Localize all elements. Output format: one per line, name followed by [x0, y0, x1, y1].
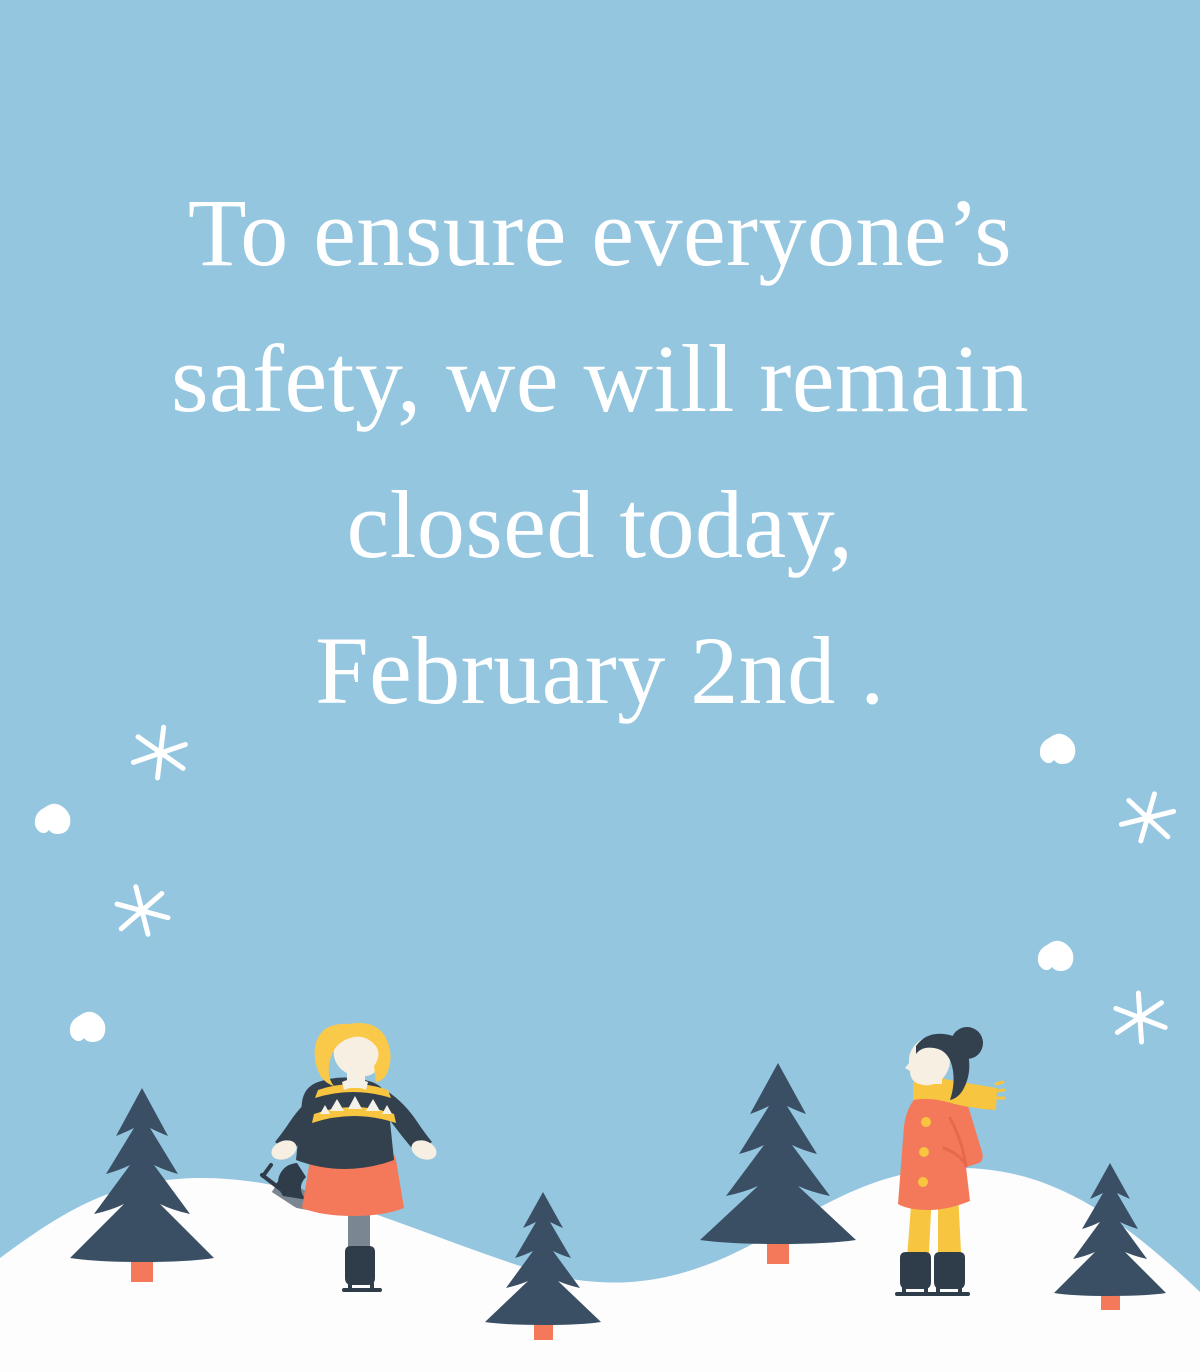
skater2-front-skate-boot [900, 1252, 931, 1289]
winter-closure-poster: To ensure everyone’s safety, we will rem… [0, 0, 1200, 1372]
skater2-coat-button [919, 1147, 929, 1157]
skater2-back-skate-boot [934, 1252, 965, 1289]
skater-standing-skate-boot [345, 1246, 375, 1285]
winter-scene-illustration [0, 0, 1200, 1372]
skater2-coat-button [918, 1177, 928, 1187]
skater2-coat-button [921, 1117, 931, 1127]
sky-background [0, 0, 1200, 1372]
skater2-hair-bun [951, 1027, 983, 1059]
